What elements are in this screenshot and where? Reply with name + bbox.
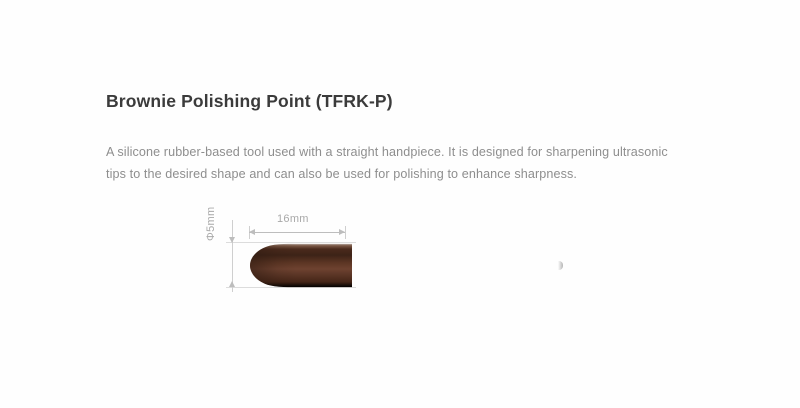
product-detail-page: Brownie Polishing Point (TFRK-P) A silic…	[0, 0, 800, 408]
length-dimension-label: 16mm	[277, 213, 309, 225]
page-title: Brownie Polishing Point (TFRK-P)	[106, 91, 393, 112]
metal-shank	[348, 261, 563, 270]
diameter-dimension-label: Φ5mm	[205, 191, 219, 241]
silicone-polishing-point-body	[248, 243, 353, 288]
product-description: A silicone rubber-based tool used with a…	[106, 141, 676, 185]
dimension-extension-tick-right	[345, 226, 346, 239]
length-arrow-right-icon	[339, 229, 345, 235]
polishing-point-illustration	[248, 240, 568, 290]
shank-end-cap	[558, 261, 563, 270]
diameter-arrow-bottom-icon	[229, 281, 235, 287]
diameter-arrow-top-icon	[229, 237, 235, 243]
length-arrow-left-icon	[249, 229, 255, 235]
length-dimension-line	[249, 232, 345, 233]
